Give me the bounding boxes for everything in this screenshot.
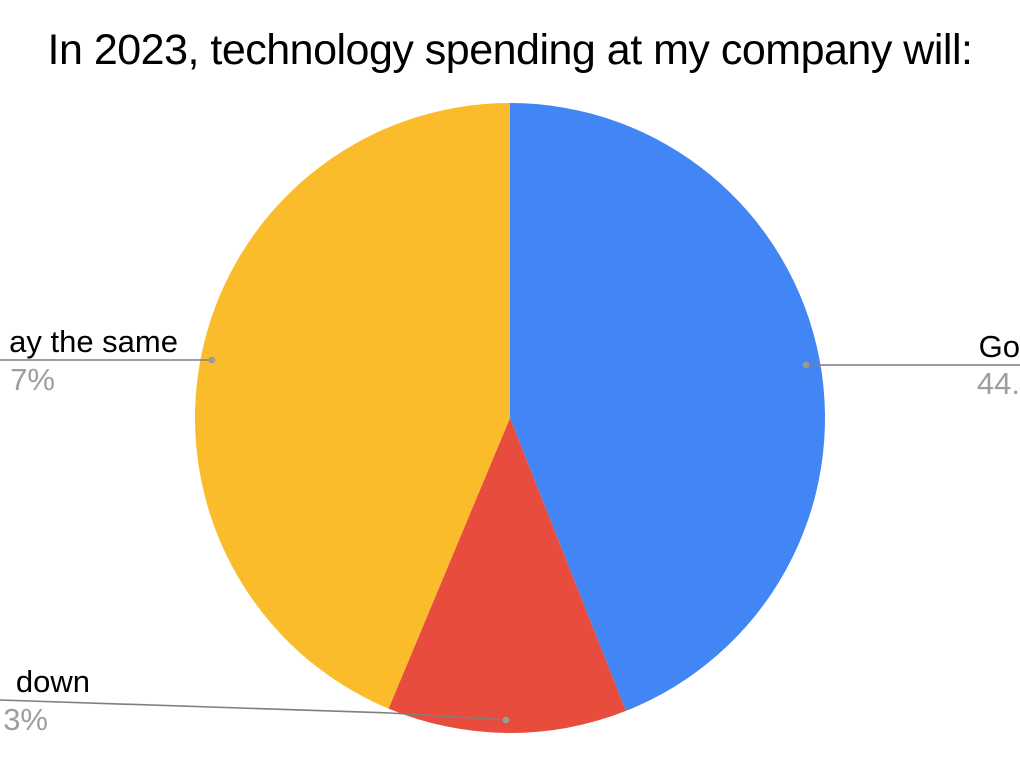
slice-percent-stay-the-same: 7% xyxy=(10,362,55,397)
slice-label-stay-the-same: ay the same xyxy=(9,324,178,359)
pie-chart-svg: Go 44. ay the same 7% down 3% xyxy=(0,0,1020,764)
slice-percent-go-up: 44. xyxy=(977,366,1020,401)
slice-percent-go-down: 3% xyxy=(3,702,48,737)
pie-chart-container: In 2023, technology spending at my compa… xyxy=(0,0,1020,764)
slice-label-go-up: Go xyxy=(979,329,1020,364)
slice-label-go-down: down xyxy=(16,664,90,699)
